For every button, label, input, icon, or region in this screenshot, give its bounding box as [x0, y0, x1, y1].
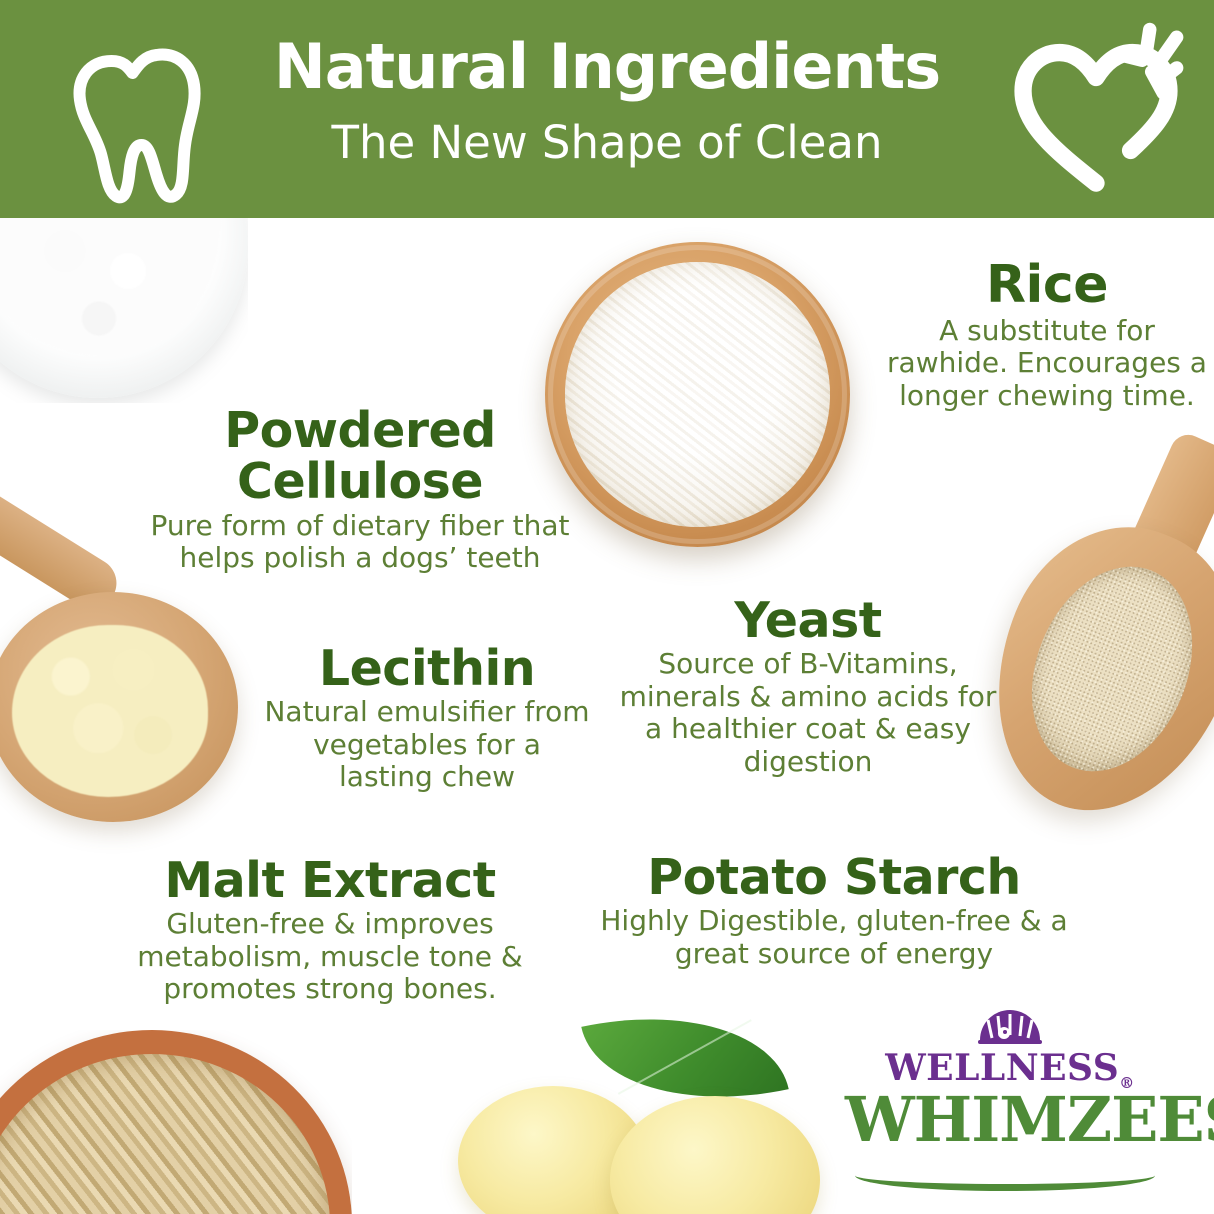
- ingredient-yeast-description: Source of B-Vitamins, minerals & amino a…: [608, 648, 1008, 778]
- ingredient-lecithin-description: Natural emulsifier from vegetables for a…: [262, 696, 592, 793]
- ingredient-potato-starch-description: Highly Digestible, gluten-free & a great…: [596, 905, 1072, 970]
- brand-swoosh: [855, 1160, 1155, 1191]
- ingredient-yeast: Yeast Source of B-Vitamins, minerals & a…: [608, 595, 1008, 778]
- brand-whimzees: WHIMZEES®: [845, 1089, 1175, 1158]
- ingredient-malt-extract-description: Gluten-free & improves metabolism, muscl…: [120, 908, 540, 1005]
- powdered-cellulose-image: [0, 218, 248, 403]
- ingredient-yeast-title: Yeast: [608, 595, 1008, 646]
- ingredient-powdered-cellulose-description: Pure form of dietary fiber that helps po…: [132, 510, 588, 575]
- ingredient-powdered-cellulose: Powdered Cellulose Pure form of dietary …: [132, 405, 588, 575]
- ingredient-lecithin-title: Lecithin: [262, 643, 592, 694]
- potato-image: [440, 1000, 800, 1214]
- rice-grains: [565, 262, 830, 527]
- page-title: Natural Ingredients: [0, 34, 1214, 99]
- infographic-page: Natural Ingredients The New Shape of Cle…: [0, 0, 1214, 1214]
- rice-bowl-image: [545, 242, 850, 547]
- ingredient-rice-description: A substitute for rawhide. Encourages a l…: [880, 315, 1214, 412]
- ingredient-rice-title: Rice: [880, 258, 1214, 313]
- lecithin-powder: [12, 625, 208, 797]
- brand-logo: WELLNESS® WHIMZEES®: [845, 1000, 1175, 1190]
- ingredient-malt-extract: Malt Extract Gluten-free & improves meta…: [120, 855, 540, 1006]
- page-subtitle: The New Shape of Clean: [0, 118, 1214, 168]
- ingredient-potato-starch-title: Potato Starch: [596, 852, 1072, 903]
- ingredient-potato-starch: Potato Starch Highly Digestible, gluten-…: [596, 852, 1072, 970]
- barley-bowl-image: [0, 1030, 352, 1214]
- yeast-scoop-image: [985, 455, 1214, 855]
- ingredient-malt-extract-title: Malt Extract: [120, 855, 540, 906]
- ingredient-powdered-cellulose-title: Powdered Cellulose: [132, 405, 588, 508]
- ingredient-lecithin: Lecithin Natural emulsifier from vegetab…: [262, 643, 592, 794]
- sunburst-dog-icon: [974, 1000, 1046, 1044]
- header-banner: Natural Ingredients The New Shape of Cle…: [0, 0, 1214, 218]
- ingredient-rice: Rice A substitute for rawhide. Encourage…: [880, 258, 1214, 412]
- potato-slice-front: [610, 1096, 820, 1214]
